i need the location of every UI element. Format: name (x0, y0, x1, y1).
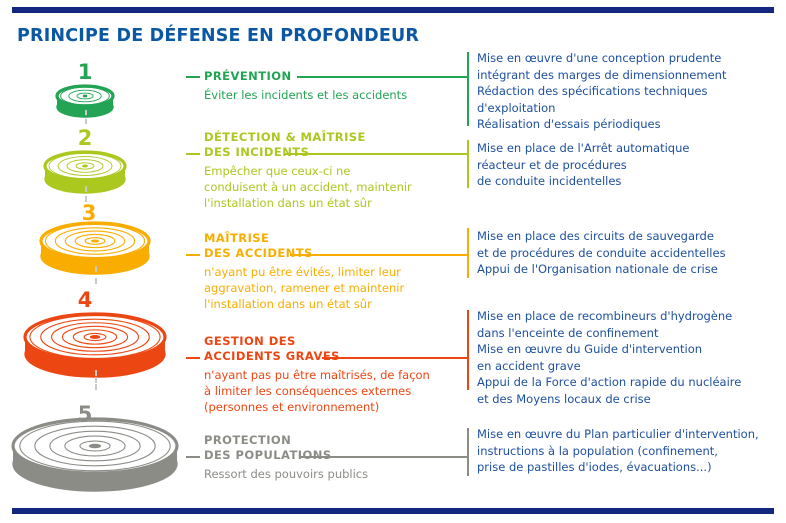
top-rule (12, 7, 774, 13)
level-left-rule-3 (186, 254, 200, 256)
level-description-5: Ressort des pouvoirs publics (204, 466, 368, 482)
level-bracket-1 (467, 52, 469, 126)
detail-line: Mise en place de recombineurs d'hydrogèn… (477, 308, 741, 325)
detail-line: Mise en place des circuits de sauvegarde (477, 228, 726, 245)
detail-line: prise de pastilles d'iodes, évacuations.… (477, 459, 759, 476)
detail-line: d'exploitation (477, 100, 726, 117)
level-heading-4: GESTION DES (204, 334, 430, 349)
detail-line: intégrant des marges de dimensionnement (477, 67, 726, 84)
level-number-1: 1 (76, 62, 94, 83)
level-details-1: Mise en œuvre d'une conception prudentei… (477, 50, 726, 133)
level-details-3: Mise en place des circuits de sauvegarde… (477, 228, 726, 278)
level-heading-2: DÉTECTION & MAÎTRISE (204, 130, 412, 145)
detail-line: dans l'enceinte de confinement (477, 325, 741, 342)
detail-line: en accident grave (477, 358, 741, 375)
level-left-rule-2 (186, 153, 200, 155)
level-bracket-3 (467, 228, 469, 278)
detail-line: Mise en œuvre d'une conception prudente (477, 50, 726, 67)
level-description-3: n'ayant pu être évités, limiter leur agg… (204, 264, 404, 312)
level-label-block-3: MAÎTRISEDES ACCIDENTSn'ayant pu être évi… (204, 231, 404, 312)
level-bracket-2 (467, 140, 469, 188)
detail-line: réacteur et de procédures (477, 157, 689, 174)
detail-line: Appui de la Force d'action rapide du nuc… (477, 374, 741, 391)
detail-line: de conduite incidentelles (477, 173, 689, 190)
level-bracket-5 (467, 428, 469, 476)
level-bracket-4 (467, 310, 469, 390)
level-details-2: Mise en place de l'Arrêt automatiqueréac… (477, 140, 689, 190)
level-details-4: Mise en place de recombineurs d'hydrogèn… (477, 308, 741, 407)
detail-line: Appui de l'Organisation nationale de cri… (477, 261, 726, 278)
dashed-connector-1 (85, 110, 87, 124)
level-details-5: Mise en œuvre du Plan particulier d'inte… (477, 426, 759, 476)
page-title: PRINCIPE DE DÉFENSE EN PROFONDEUR (17, 26, 419, 46)
level-right-rule-2 (285, 153, 468, 155)
infographic-page: PRINCIPE DE DÉFENSE EN PROFONDEUR 1PRÉVE… (0, 0, 786, 523)
dashed-connector-3 (95, 266, 97, 284)
detail-line: et des Moyens locaux de crise (477, 391, 741, 408)
level-number-5: 5 (76, 404, 94, 425)
level-left-rule-1 (186, 76, 200, 78)
level-label-block-1: PRÉVENTIONÉviter les incidents et les ac… (204, 69, 407, 103)
level-description-4: n'ayant pas pu être maîtrisés, de façon … (204, 367, 430, 415)
level-number-4: 4 (76, 290, 94, 311)
level-description-2: Empêcher que ceux-ci ne conduisent à un … (204, 163, 412, 211)
dashed-connector-2 (85, 186, 87, 202)
detail-line: Réalisation d'essais périodiques (477, 116, 726, 133)
level-label-block-2: DÉTECTION & MAÎTRISEDES INCIDENTSEmpêche… (204, 130, 412, 211)
level-right-rule-1 (297, 76, 468, 78)
level-heading-3: MAÎTRISE (204, 231, 404, 246)
detail-line: Mise en place de l'Arrêt automatique (477, 140, 689, 157)
detail-line: Rédaction des spécifications techniques (477, 83, 726, 100)
dashed-connector-4 (95, 370, 97, 390)
level-number-2: 2 (76, 128, 94, 149)
detail-line: et de procédures de conduite accidentell… (477, 245, 726, 262)
level-left-rule-5 (186, 456, 200, 458)
bottom-rule (12, 508, 774, 514)
detail-line: instructions à la population (confinemen… (477, 443, 759, 460)
detail-line: Mise en œuvre du Guide d'intervention (477, 341, 741, 358)
level-description-1: Éviter les incidents et les accidents (204, 87, 407, 103)
detail-line: Mise en œuvre du Plan particulier d'inte… (477, 426, 759, 443)
level-number-3: 3 (80, 203, 98, 224)
level-right-rule-5 (300, 456, 468, 458)
defense-layer-disc-5 (10, 416, 180, 494)
level-left-rule-4 (186, 357, 200, 359)
level-heading-5: PROTECTION (204, 433, 368, 448)
level-right-rule-4 (322, 357, 468, 359)
level-right-rule-3 (290, 254, 468, 256)
level-label-block-4: GESTION DESACCIDENTS GRAVESn'ayant pas p… (204, 334, 430, 415)
